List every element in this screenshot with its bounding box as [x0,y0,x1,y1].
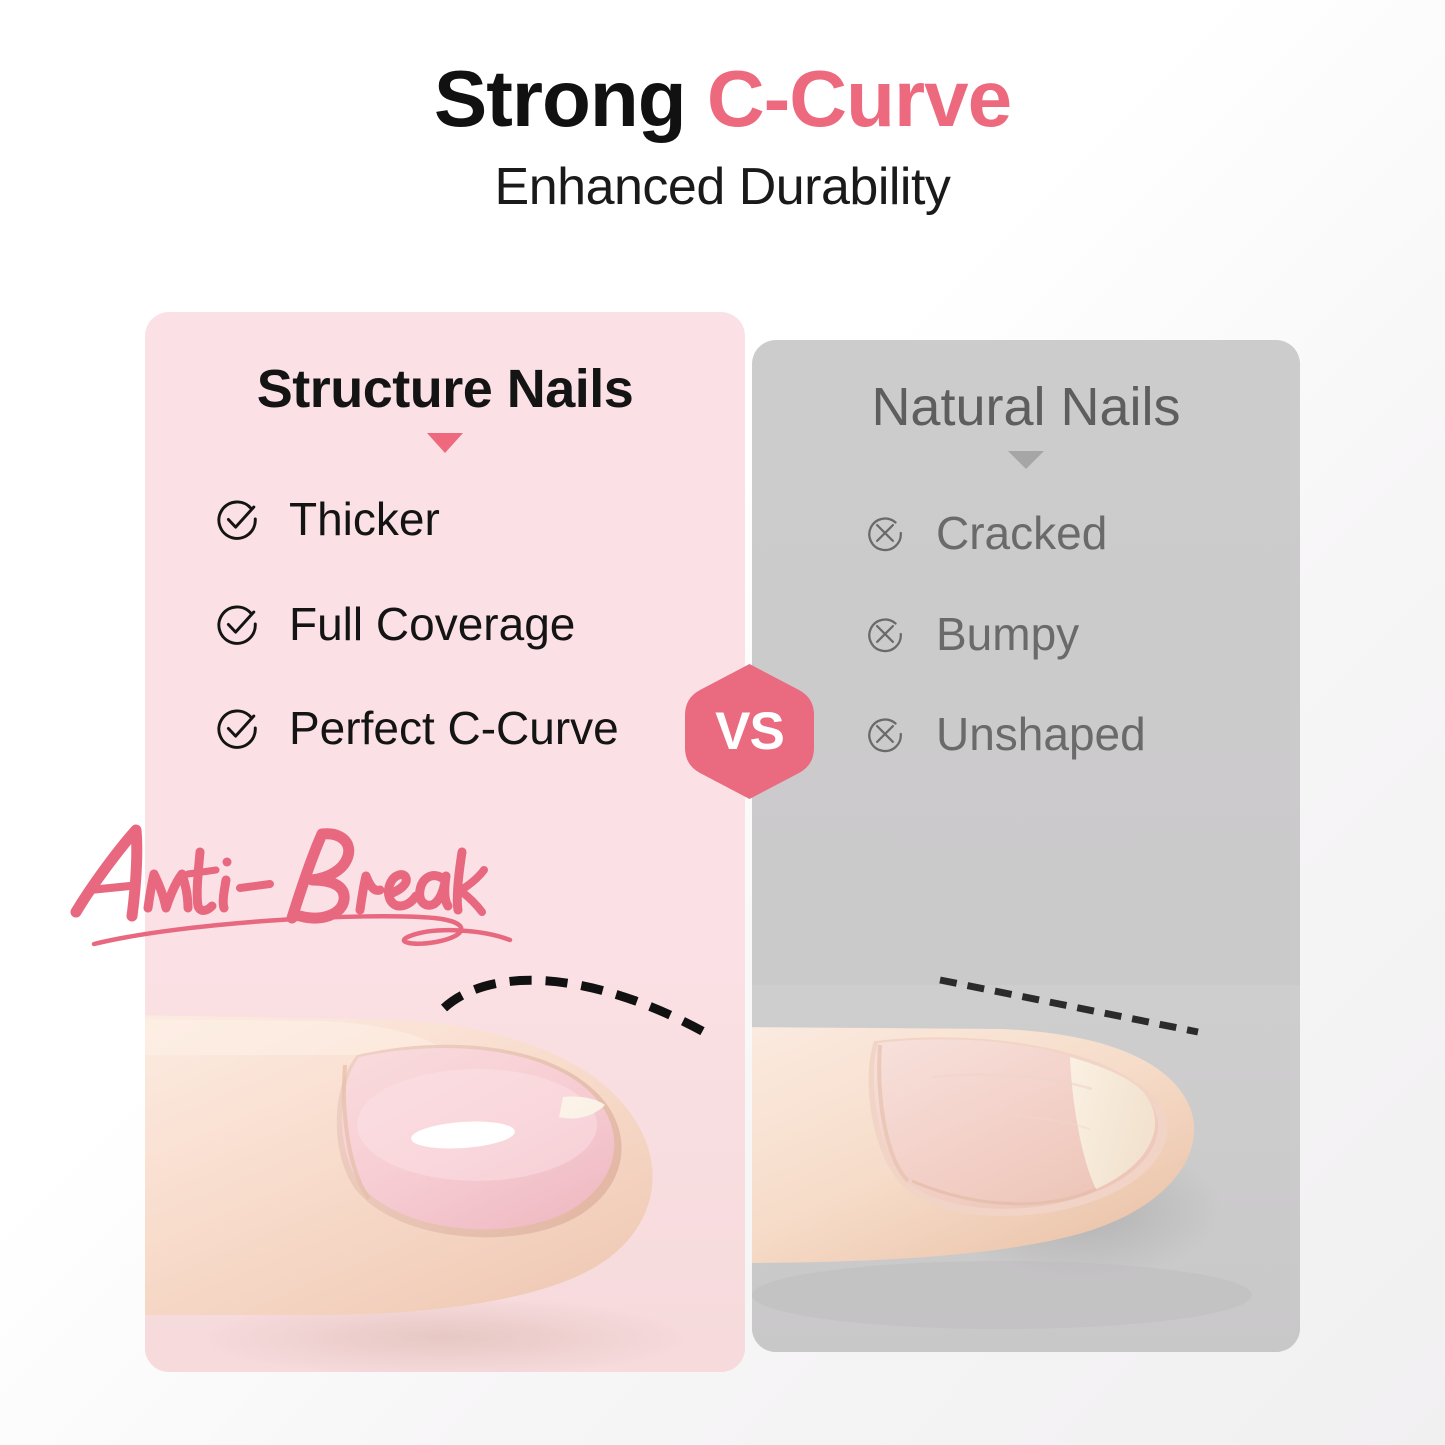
structure-nails-header: Structure Nails [145,360,745,453]
list-item: Bumpy [864,609,1300,660]
chevron-down-icon [1008,451,1044,469]
list-item: Full Coverage [215,599,745,650]
title-main: Strong [434,54,707,143]
list-item: Thicker [215,494,745,545]
feature-label: Cracked [936,508,1107,559]
x-circle-icon [864,613,906,655]
natural-nails-title: Natural Nails [752,378,1300,437]
page-subtitle: Enhanced Durability [0,158,1445,218]
vs-label: VS [681,660,818,803]
infographic-page: Strong C-Curve Enhanced Durability [0,0,1445,1445]
feature-label: Thicker [289,494,440,545]
feature-label: Unshaped [936,709,1146,760]
natural-nails-header: Natural Nails [752,378,1300,469]
structured-nail-photo [145,985,745,1372]
check-circle-icon [215,496,261,542]
structure-nails-title: Structure Nails [145,360,745,419]
page-title: Strong C-Curve [0,54,1445,144]
x-circle-icon [864,512,906,554]
anti-break-script-badge [64,812,534,972]
list-item: Unshaped [864,709,1300,760]
natural-nails-card: Natural Nails Cracked Bumpy [752,340,1300,1352]
x-circle-icon [864,713,906,755]
feature-label: Bumpy [936,609,1079,660]
title-accent: C-Curve [707,54,1011,143]
structure-nails-feature-list: Thicker Full Coverage Perfect C-Curve [215,494,745,808]
check-circle-icon [215,601,261,647]
vs-badge: VS [681,660,818,803]
chevron-down-icon [427,433,463,453]
feature-label: Full Coverage [289,599,575,650]
list-item: Perfect C-Curve [215,703,745,754]
check-circle-icon [215,705,261,751]
natural-nail-photo [752,985,1300,1352]
feature-label: Perfect C-Curve [289,703,619,754]
list-item: Cracked [864,508,1300,559]
header: Strong C-Curve Enhanced Durability [0,54,1445,217]
natural-nails-feature-list: Cracked Bumpy Unshaped [864,508,1300,810]
